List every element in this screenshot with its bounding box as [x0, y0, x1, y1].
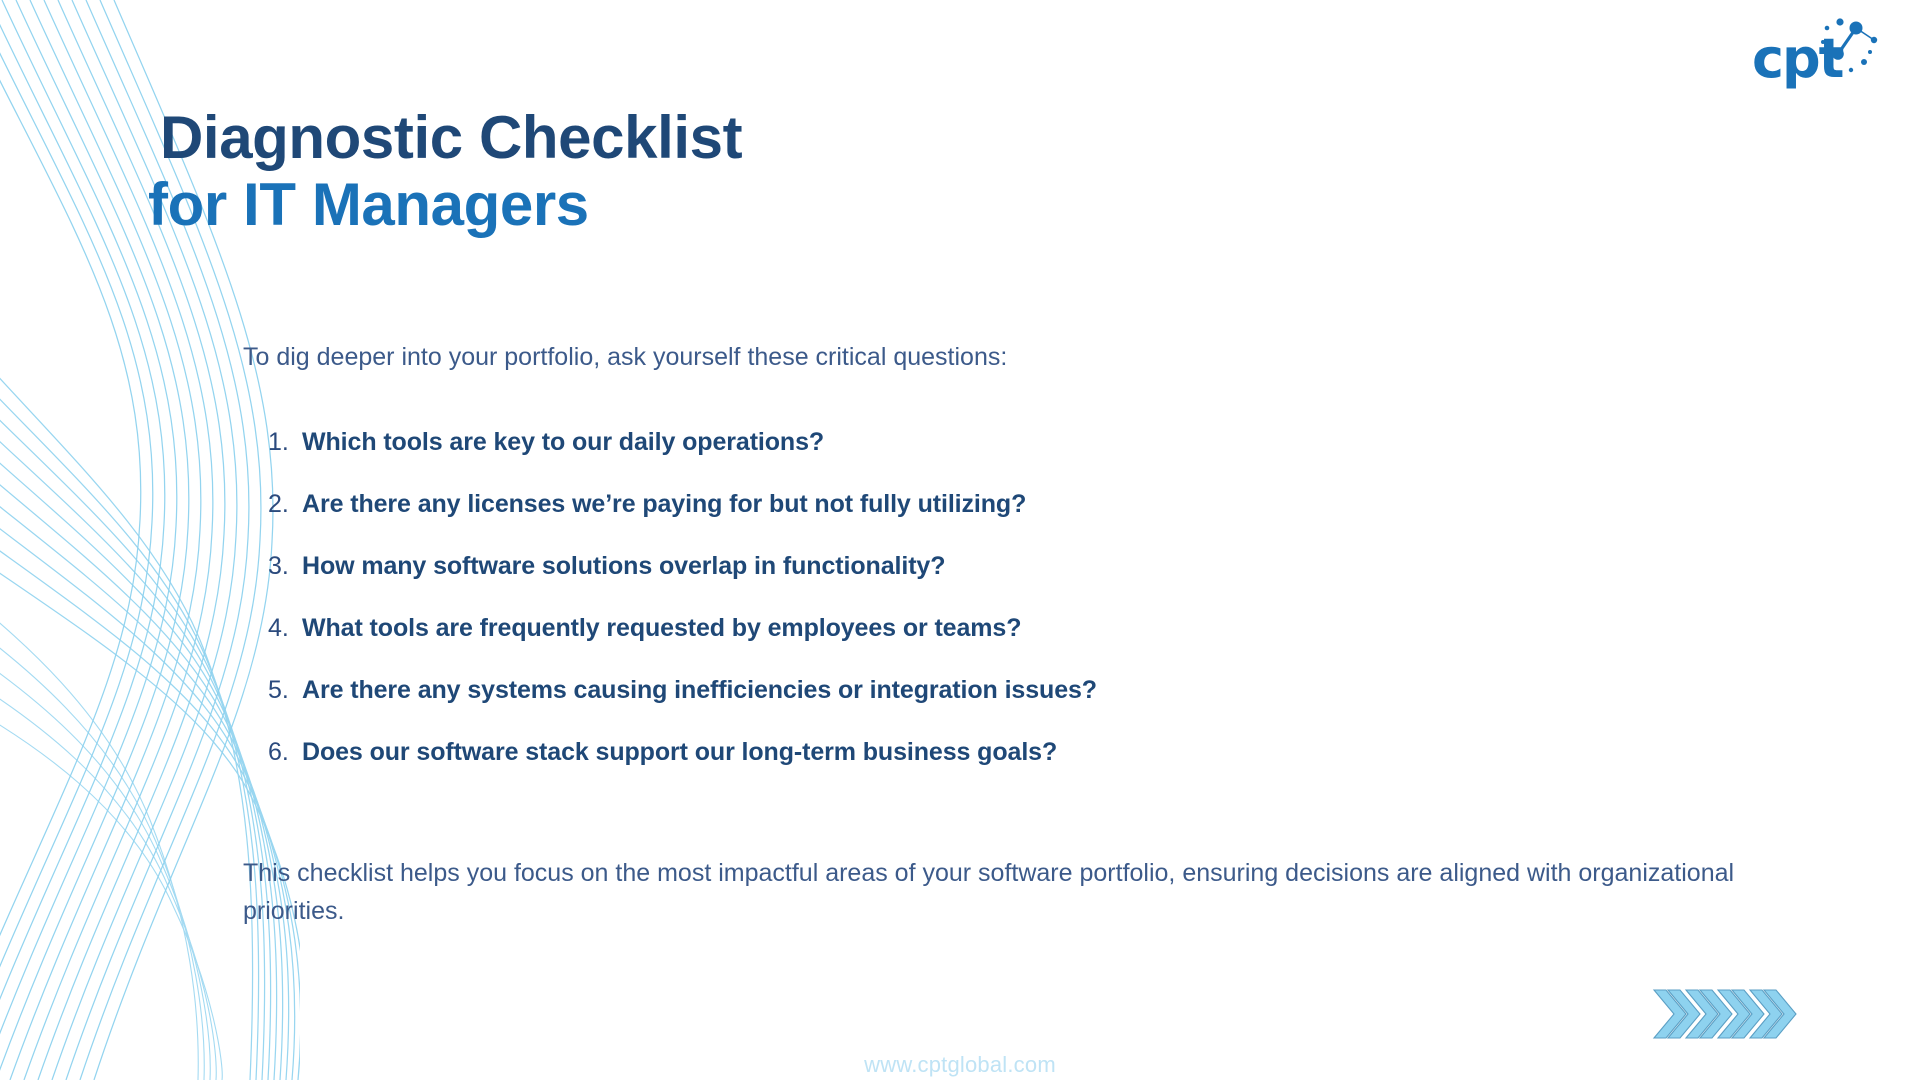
list-item-number: 6.: [268, 738, 302, 767]
intro-text: To dig deeper into your portfolio, ask y…: [243, 340, 1007, 375]
footer-url[interactable]: www.cptglobal.com: [0, 1052, 1920, 1078]
title-line-2: for IT Managers: [148, 171, 742, 238]
title-line-1: Diagnostic Checklist: [160, 104, 742, 171]
list-item: 6. Does our software stack support our l…: [268, 738, 1668, 767]
list-item-label: Does our software stack support our long…: [302, 738, 1057, 767]
list-item-number: 5.: [268, 676, 302, 705]
list-item: 4. What tools are frequently requested b…: [268, 614, 1668, 643]
page-title: Diagnostic Checklist for IT Managers: [160, 104, 742, 238]
cpt-logo: cpt: [1752, 10, 1882, 90]
list-item-label: What tools are frequently requested by e…: [302, 614, 1021, 643]
list-item-number: 1.: [268, 428, 302, 457]
list-item: 3. How many software solutions overlap i…: [268, 552, 1668, 581]
list-item-number: 3.: [268, 552, 302, 581]
closing-paragraph: This checklist helps you focus on the mo…: [243, 855, 1808, 930]
list-item-number: 2.: [268, 490, 302, 519]
list-item-label: How many software solutions overlap in f…: [302, 552, 945, 581]
logo-wordmark: cpt: [1752, 32, 1842, 86]
list-item: 5. Are there any systems causing ineffic…: [268, 676, 1668, 705]
list-item-label: Are there any systems causing inefficien…: [302, 676, 1097, 705]
double-chevron-right-icon: [1652, 986, 1802, 1042]
questions-list: 1. Which tools are key to our daily oper…: [268, 428, 1668, 800]
list-item: 2. Are there any licenses we’re paying f…: [268, 490, 1668, 519]
list-item-label: Which tools are key to our daily operati…: [302, 428, 824, 457]
slide: cpt Diagnostic Checklist for IT Managers…: [0, 0, 1920, 1080]
list-item: 1. Which tools are key to our daily oper…: [268, 428, 1668, 457]
list-item-number: 4.: [268, 614, 302, 643]
list-item-label: Are there any licenses we’re paying for …: [302, 490, 1026, 519]
